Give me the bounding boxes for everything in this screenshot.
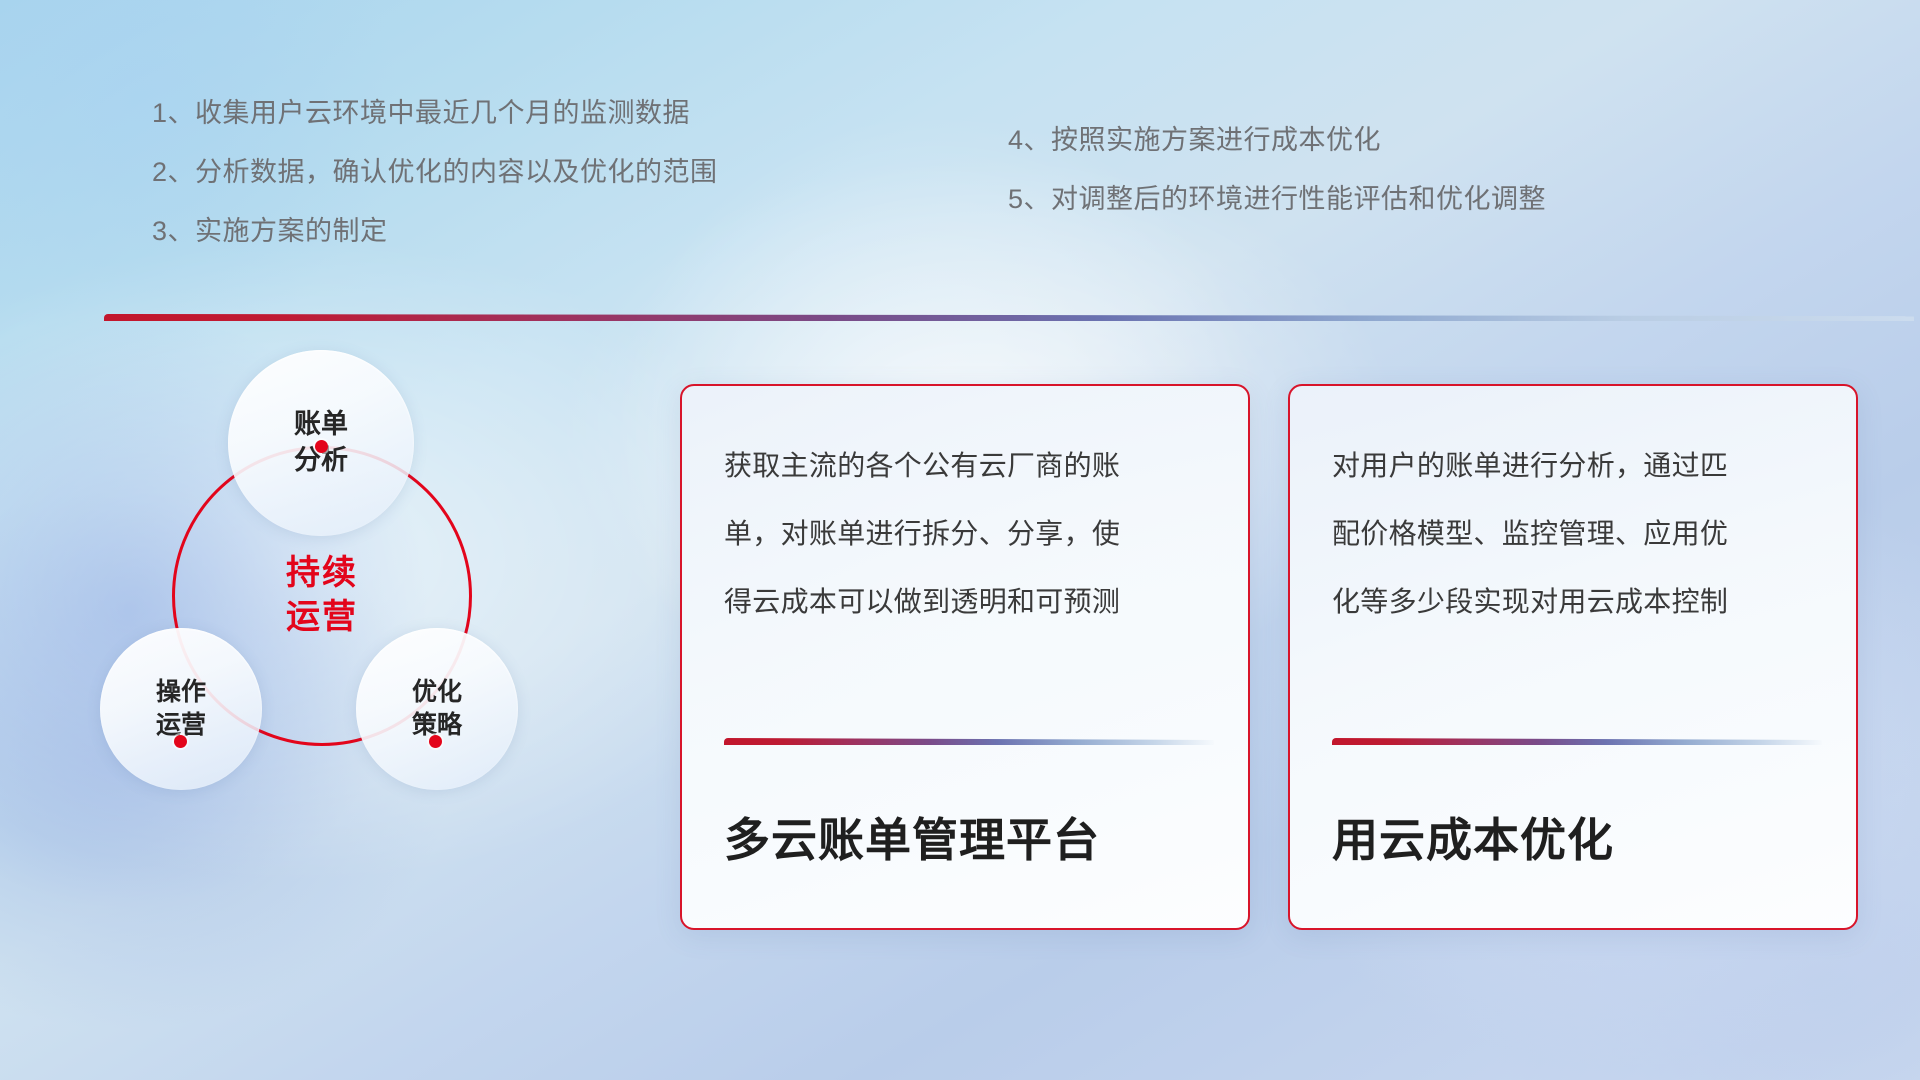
- card-body-line: 化等多少段实现对用云成本控制: [1332, 588, 1818, 616]
- section-divider-line: [104, 314, 1914, 321]
- feature-card-multicloud-billing[interactable]: 获取主流的各个公有云厂商的账 单，对账单进行拆分、分享，使 得云成本可以做到透明…: [680, 384, 1250, 930]
- node-dot-left-icon: [174, 735, 187, 748]
- step-text: 1、收集用户云环境中最近几个月的监测数据: [152, 100, 690, 127]
- card-title: 用云成本优化: [1332, 804, 1832, 870]
- slide-canvas: 1、收集用户云环境中最近几个月的监测数据 2、分析数据，确认优化的内容以及优化的…: [0, 0, 1920, 1080]
- center-label-line-1: 持续: [286, 552, 358, 596]
- circle-top-line-1: 账单: [294, 407, 348, 443]
- step-text: 2、分析数据，确认优化的内容以及优化的范围: [152, 159, 718, 186]
- card-title: 多云账单管理平台: [724, 804, 1224, 870]
- step-text: 4、按照实施方案进行成本优化: [1008, 127, 1381, 154]
- steps-list-right: 4、按照实施方案进行成本优化 5、对调整后的环境进行性能评估和优化调整: [1008, 127, 1546, 245]
- step-item: 4、按照实施方案进行成本优化: [1008, 127, 1546, 154]
- circle-node-operations[interactable]: 操作 运营: [100, 628, 262, 790]
- step-item: 3、实施方案的制定: [152, 218, 718, 245]
- step-item: 5、对调整后的环境进行性能评估和优化调整: [1008, 186, 1546, 213]
- step-text: 5、对调整后的环境进行性能评估和优化调整: [1008, 186, 1546, 213]
- center-label-line-2: 运营: [286, 596, 358, 640]
- card-body-line: 得云成本可以做到透明和可预测: [724, 588, 1210, 616]
- card-body-text: 对用户的账单进行分析，通过匹 配价格模型、监控管理、应用优 化等多少段实现对用云…: [1332, 452, 1818, 656]
- card-divider-line: [724, 738, 1214, 745]
- card-body-text: 获取主流的各个公有云厂商的账 单，对账单进行拆分、分享，使 得云成本可以做到透明…: [724, 452, 1210, 656]
- circle-left-line-1: 操作: [156, 676, 206, 709]
- card-body-line: 配价格模型、监控管理、应用优: [1332, 520, 1818, 548]
- card-divider-line: [1332, 738, 1822, 745]
- continuous-operation-diagram: 持续 运营 账单 分析 操作 运营 优化 策略: [100, 350, 560, 910]
- step-text: 3、实施方案的制定: [152, 218, 388, 245]
- step-item: 1、收集用户云环境中最近几个月的监测数据: [152, 100, 718, 127]
- card-body-line: 对用户的账单进行分析，通过匹: [1332, 452, 1818, 480]
- card-body-line: 单，对账单进行拆分、分享，使: [724, 520, 1210, 548]
- card-body-line: 获取主流的各个公有云厂商的账: [724, 452, 1210, 480]
- node-dot-right-icon: [429, 735, 442, 748]
- feature-card-cloud-cost-optimization[interactable]: 对用户的账单进行分析，通过匹 配价格模型、监控管理、应用优 化等多少段实现对用云…: [1288, 384, 1858, 930]
- node-dot-top-icon: [315, 440, 328, 453]
- steps-list-left: 1、收集用户云环境中最近几个月的监测数据 2、分析数据，确认优化的内容以及优化的…: [152, 100, 718, 277]
- step-item: 2、分析数据，确认优化的内容以及优化的范围: [152, 159, 718, 186]
- circle-node-optimization-strategy[interactable]: 优化 策略: [356, 628, 518, 790]
- circle-right-line-1: 优化: [412, 676, 462, 709]
